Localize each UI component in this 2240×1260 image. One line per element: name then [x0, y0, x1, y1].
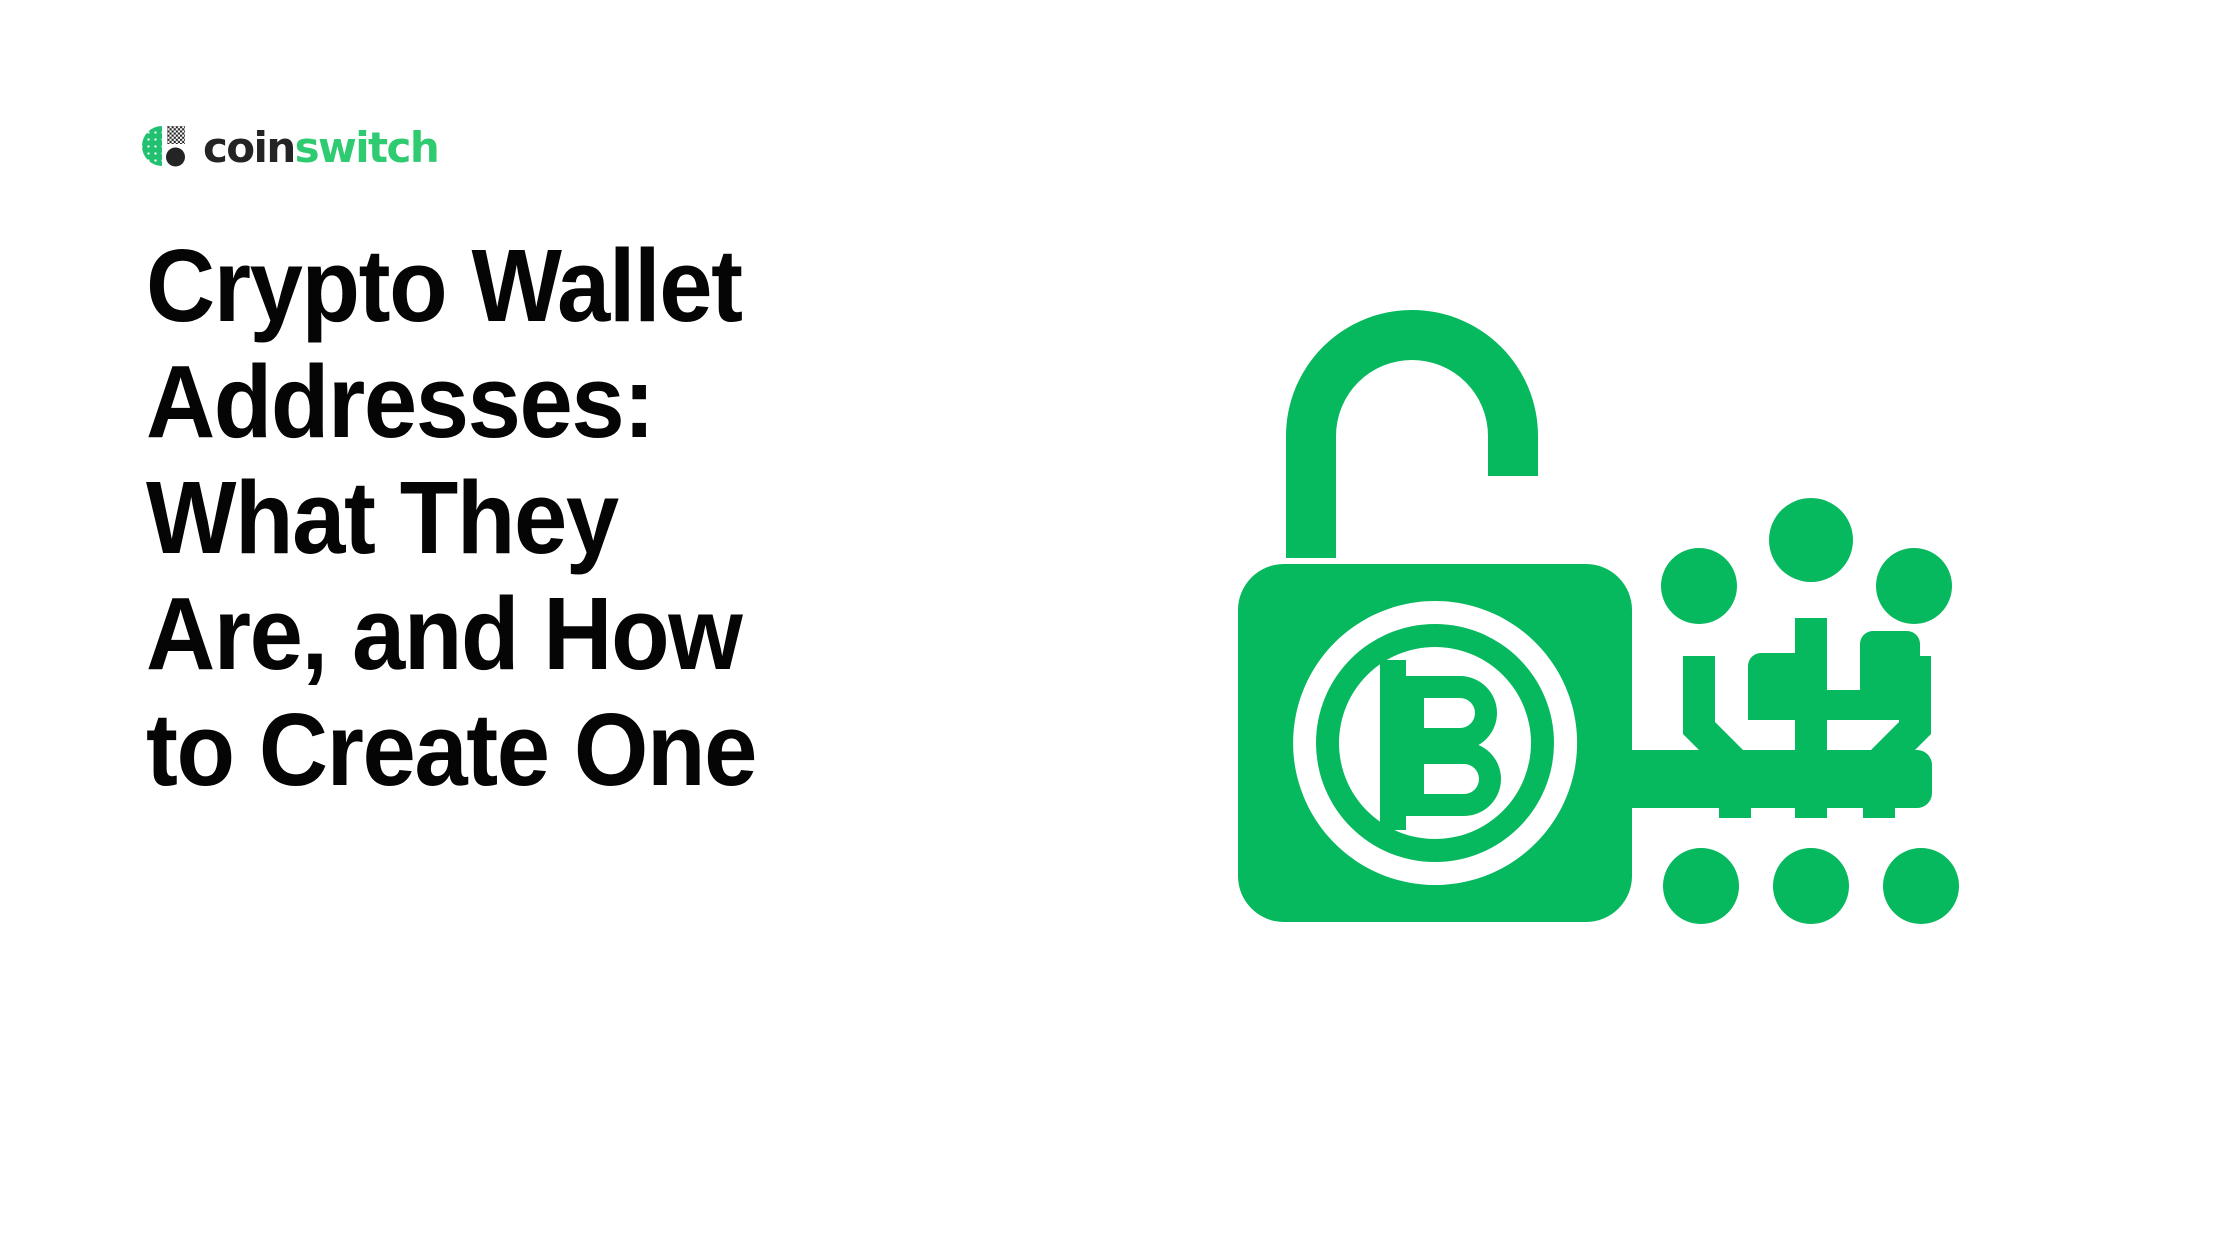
brand-word-switch: switch: [295, 123, 438, 172]
headline-line-1: Crypto Wallet: [146, 228, 946, 344]
bitcoin-coin-icon: [1316, 624, 1554, 862]
page-title: Crypto Wallet Addresses: What They Are, …: [146, 228, 946, 808]
brand-logo[interactable]: coinswitch: [138, 122, 438, 174]
padlock-shackle-icon: [1286, 310, 1538, 558]
circuit-chip-icon: [1748, 631, 1920, 720]
headline-line-5: to Create One: [146, 692, 946, 808]
brand-word-coin: coin: [203, 123, 295, 172]
coinswitch-logo-mark-icon: [138, 122, 190, 174]
headline-line-3: What They: [146, 460, 946, 576]
headline-line-4: Are, and How: [146, 576, 946, 692]
crypto-wallet-padlock-illustration-final: [1228, 268, 1968, 968]
circuit-bottom-dot-row-icon: [1663, 848, 1959, 924]
circuit-nodes-icon: [1661, 498, 1952, 624]
brand-wordmark: coinswitch: [203, 127, 438, 169]
headline-line-2: Addresses:: [146, 344, 946, 460]
